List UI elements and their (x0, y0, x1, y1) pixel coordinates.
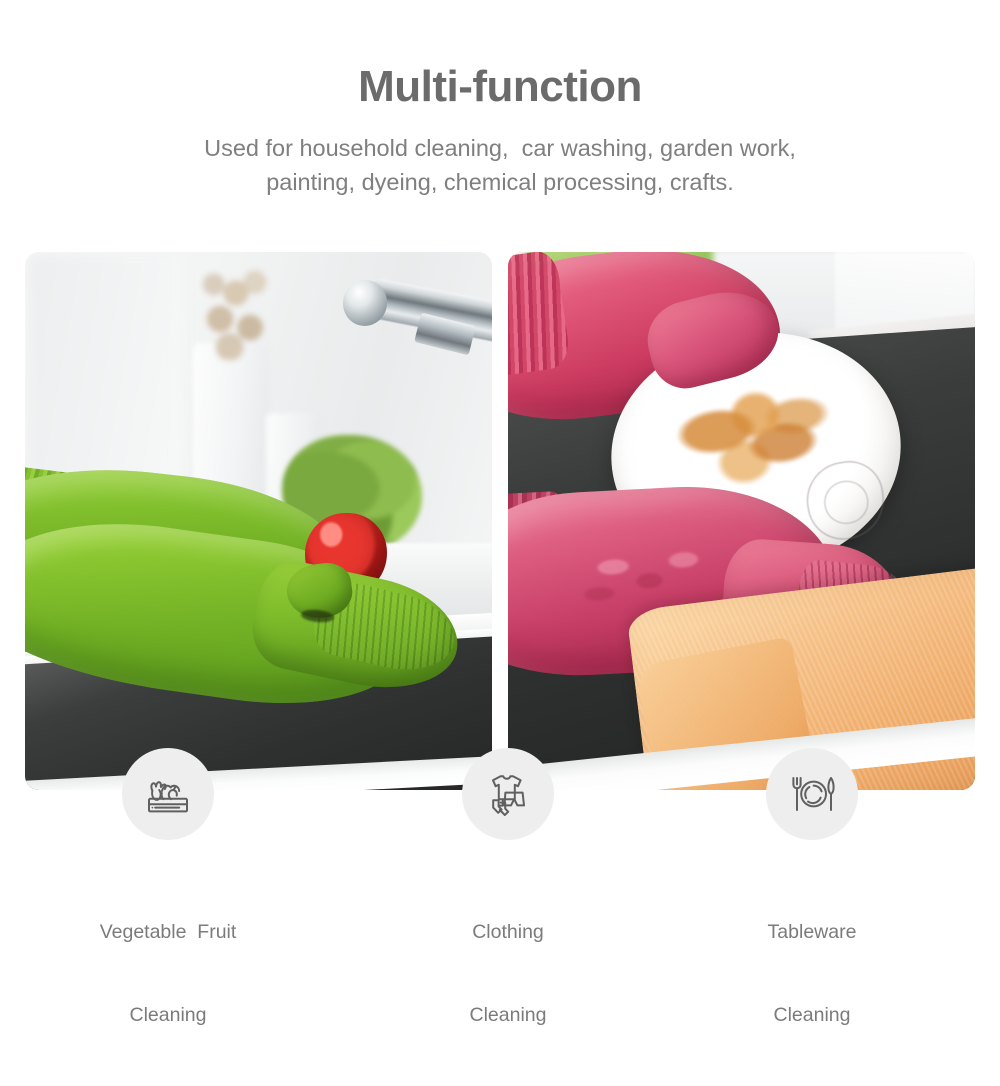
feature-badge (462, 748, 554, 840)
feature-label-line-2: Cleaning (682, 1002, 942, 1030)
feature-label: Tableware Cleaning (682, 864, 942, 1086)
photo-gallery (25, 252, 975, 790)
subtitle-line-1: Used for household cleaning, car washing… (0, 132, 1000, 165)
photo-green-gloves-washing-fruit (25, 252, 492, 790)
feature-label: Vegetable Fruit Cleaning (38, 864, 298, 1086)
tableware-icon (784, 766, 840, 822)
feature-label-line-2: Cleaning (38, 1002, 298, 1030)
feature-label-line-1: Vegetable Fruit (38, 919, 298, 947)
feature-label: Clothing Cleaning (378, 864, 638, 1086)
feature-badge (766, 748, 858, 840)
feature-tableware-cleaning: Tableware Cleaning (682, 748, 942, 1086)
feature-label-line-1: Clothing (378, 919, 638, 947)
page-subtitle: Used for household cleaning, car washing… (0, 110, 1000, 199)
vegetable-crate-icon (140, 766, 196, 822)
photo-pink-gloves-washing-plate (508, 252, 975, 790)
feature-badge (122, 748, 214, 840)
dried-flowers (198, 252, 277, 360)
left-scene (25, 252, 492, 790)
feature-list: Vegetable Fruit Cleaning (0, 748, 1000, 948)
page-title: Multi-function (0, 0, 1000, 110)
right-scene (508, 252, 975, 790)
feature-label-line-2: Cleaning (378, 1002, 638, 1030)
feature-clothing-cleaning: Clothing Cleaning (378, 748, 638, 1086)
header: Multi-function Used for household cleani… (0, 0, 1000, 199)
clothing-icon (480, 766, 536, 822)
subtitle-line-2: painting, dyeing, chemical processing, c… (0, 166, 1000, 199)
product-feature-page: Multi-function Used for household cleani… (0, 0, 1000, 1000)
feature-vegetable-fruit-cleaning: Vegetable Fruit Cleaning (38, 748, 298, 1086)
feature-label-line-1: Tableware (682, 919, 942, 947)
